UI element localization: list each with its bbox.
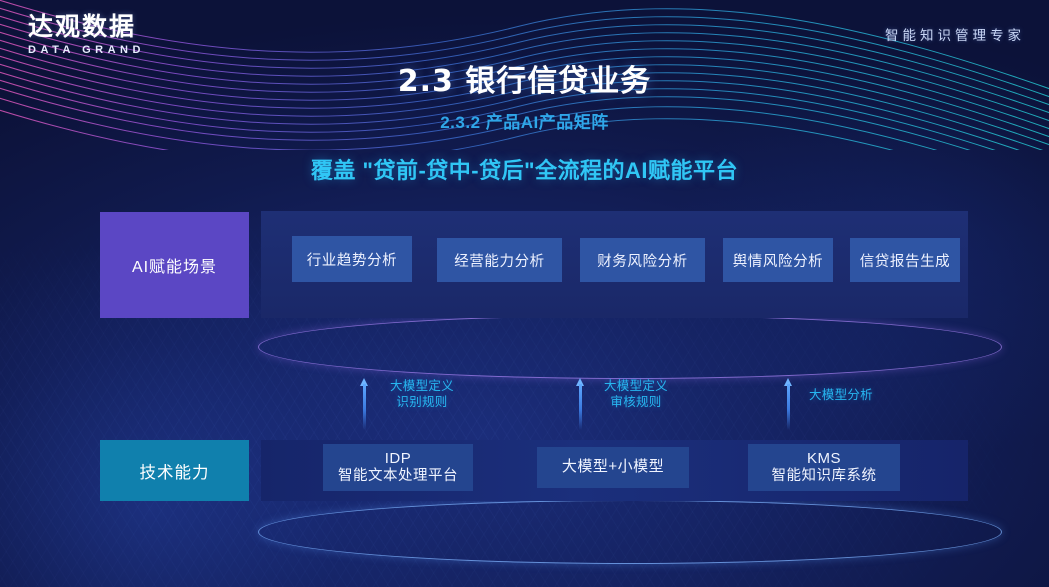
page-title: 2.3 银行信贷业务 bbox=[0, 56, 1049, 100]
header-tagline: 智能知识管理专家 bbox=[885, 24, 1025, 44]
brand-logo: 达观数据 DATA GRAND bbox=[28, 14, 145, 56]
tech-row-label: 技术能力 bbox=[100, 440, 249, 501]
scene-item-financial-risk[interactable]: 财务风险分析 bbox=[580, 238, 705, 282]
connector-label-1: 大模型定义 识别规则 bbox=[374, 379, 470, 410]
tech-item-idp[interactable]: IDP 智能文本处理平台 bbox=[323, 444, 473, 491]
tech-item-models-line1: 大模型+小模型 bbox=[562, 459, 664, 476]
arrow-up-icon-3 bbox=[786, 378, 790, 430]
connector-label-2-line2: 审核规则 bbox=[588, 395, 684, 411]
connector-label-1-line1: 大模型定义 bbox=[374, 379, 470, 395]
tech-item-models[interactable]: 大模型+小模型 bbox=[537, 447, 689, 488]
page-subtitle: 2.3.2 产品AI产品矩阵 bbox=[0, 108, 1049, 133]
arrow-shaft-2 bbox=[579, 384, 582, 430]
tech-item-idp-line2: 智能文本处理平台 bbox=[338, 468, 458, 484]
page-headline: 覆盖 "贷前-贷中-贷后"全流程的AI赋能平台 bbox=[0, 153, 1049, 185]
tech-item-idp-line1: IDP bbox=[385, 451, 412, 468]
tech-item-kms[interactable]: KMS 智能知识库系统 bbox=[748, 444, 900, 491]
scene-item-public-opinion-risk[interactable]: 舆情风险分析 bbox=[723, 238, 833, 282]
arrow-shaft-3 bbox=[787, 384, 790, 430]
scenes-row-label: AI赋能场景 bbox=[100, 212, 249, 318]
arrow-up-icon-2 bbox=[578, 378, 582, 430]
scene-item-operating-capability[interactable]: 经营能力分析 bbox=[437, 238, 562, 282]
connector-label-2: 大模型定义 审核规则 bbox=[588, 379, 684, 410]
brand-logo-en: DATA GRAND bbox=[28, 44, 145, 56]
connector-label-1-line2: 识别规则 bbox=[374, 395, 470, 411]
tech-item-kms-line2: 智能知识库系统 bbox=[772, 468, 877, 484]
brand-logo-cn: 达观数据 bbox=[28, 14, 145, 39]
connector-label-3-line1: 大模型分析 bbox=[796, 388, 886, 404]
connector-label-2-line1: 大模型定义 bbox=[588, 379, 684, 395]
slide-root: 达观数据 DATA GRAND 智能知识管理专家 2.3 银行信贷业务 2.3.… bbox=[0, 0, 1049, 587]
scene-item-industry-trend[interactable]: 行业趋势分析 bbox=[292, 236, 412, 282]
arrow-shaft-1 bbox=[363, 384, 366, 430]
connector-label-3: 大模型分析 bbox=[796, 388, 886, 404]
tech-item-kms-line1: KMS bbox=[807, 451, 841, 468]
arrow-up-icon-1 bbox=[362, 378, 366, 430]
scene-item-credit-report[interactable]: 信贷报告生成 bbox=[850, 238, 960, 282]
